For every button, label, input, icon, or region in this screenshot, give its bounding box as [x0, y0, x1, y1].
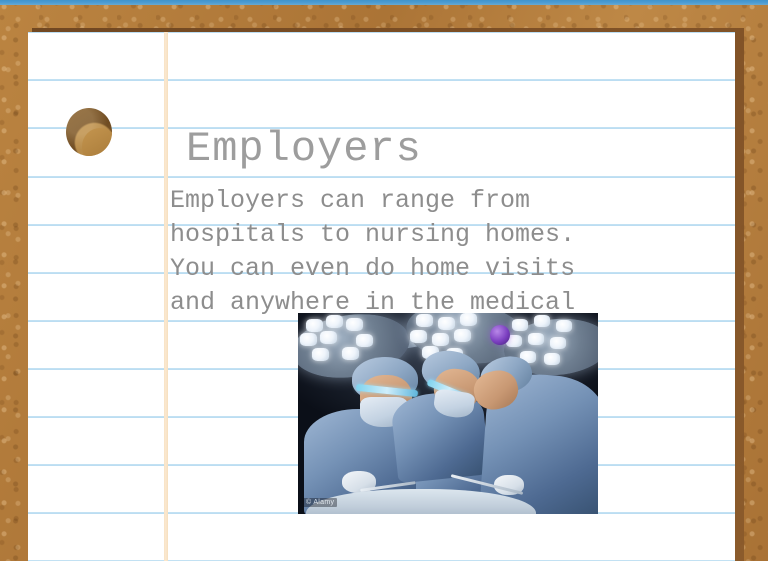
lamp-bulb [346, 318, 363, 331]
lamp-bulb [326, 315, 343, 328]
purple-light-knob [490, 325, 510, 345]
lamp-bulb [432, 333, 449, 346]
surgery-operating-room-photo: © Alamy [298, 313, 598, 514]
lamp-bulb [512, 319, 528, 331]
photo-watermark: © Alamy [303, 498, 337, 507]
lamp-bulb [460, 313, 477, 326]
body-line: Employers can range from [170, 184, 730, 218]
body-line: You can even do home visits [170, 252, 730, 286]
lamp-bulb [454, 329, 471, 342]
lamp-bulb [528, 333, 544, 345]
top-blue-strip [0, 0, 768, 5]
photo-canvas: © Alamy [298, 313, 598, 514]
lamp-bulb [356, 334, 373, 347]
lamp-bulb [320, 331, 337, 344]
slide-body-text: Employers can range from hospitals to nu… [170, 184, 730, 320]
lamp-bulb [300, 333, 317, 346]
circle-bullet-icon [66, 108, 112, 156]
lamp-bulb [410, 330, 427, 343]
lamp-bulb [544, 353, 560, 365]
presentation-slide: Employers Employers can range from hospi… [0, 0, 768, 561]
circle-bullet-crescent [82, 128, 112, 156]
body-line: hospitals to nursing homes. [170, 218, 730, 252]
notebook-paper: Employers Employers can range from hospi… [28, 32, 735, 561]
lamp-bulb [550, 337, 566, 349]
lamp-bulb [556, 320, 572, 332]
lamp-bulb [306, 319, 323, 332]
lamp-bulb [416, 314, 433, 327]
lamp-bulb [342, 347, 359, 360]
lamp-bulb [312, 348, 329, 361]
lamp-bulb [438, 317, 455, 330]
lamp-bulb [534, 315, 550, 327]
